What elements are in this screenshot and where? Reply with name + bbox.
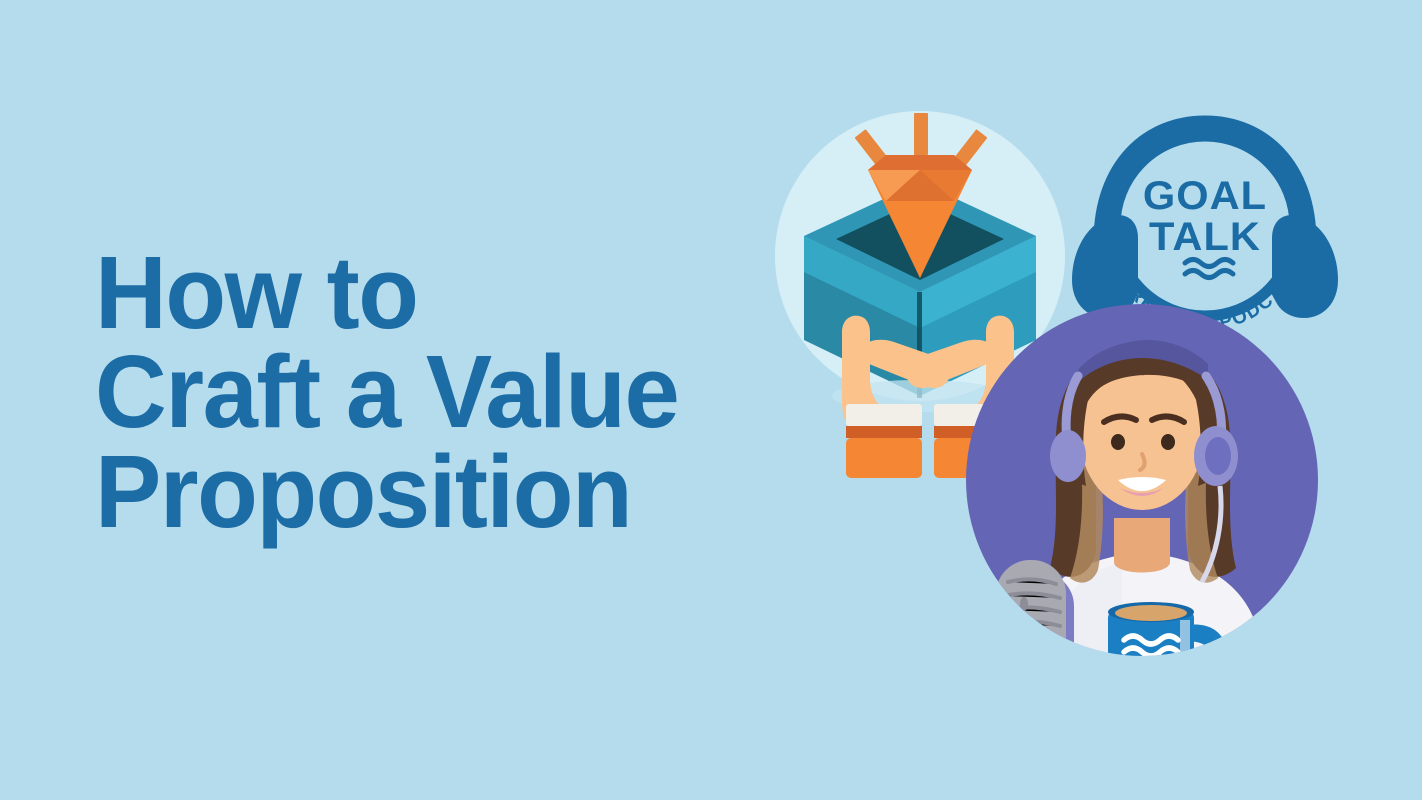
title-line-2: Craft a Value	[95, 342, 771, 441]
mug-coffee	[1115, 605, 1187, 621]
left-cuff	[846, 438, 922, 478]
host-portrait: WordStream	[966, 304, 1326, 704]
page-title: How to Craft a Value Proposition	[95, 243, 795, 541]
logo-name-line1: GOAL	[1143, 173, 1267, 218]
left-cuff-band	[846, 404, 922, 426]
mug-label: WordStream	[1110, 661, 1193, 677]
title-line-3: Proposition	[95, 442, 771, 541]
title-line-1: How to	[95, 243, 771, 342]
host-eye-right	[1161, 434, 1175, 450]
left-cuff-shadow	[846, 426, 922, 438]
host-eye-left	[1111, 434, 1125, 450]
podcast-episode-cover: How to Craft a Value Proposition	[0, 0, 1422, 800]
goal-talk-logo: GOAL TALK MARKETING PODCAST	[1062, 104, 1348, 330]
wave-mark-icon	[1185, 260, 1233, 278]
logo-name-line2: TALK	[1149, 214, 1261, 259]
host-neck	[1114, 518, 1170, 573]
headphone-cup-left	[1050, 430, 1086, 482]
